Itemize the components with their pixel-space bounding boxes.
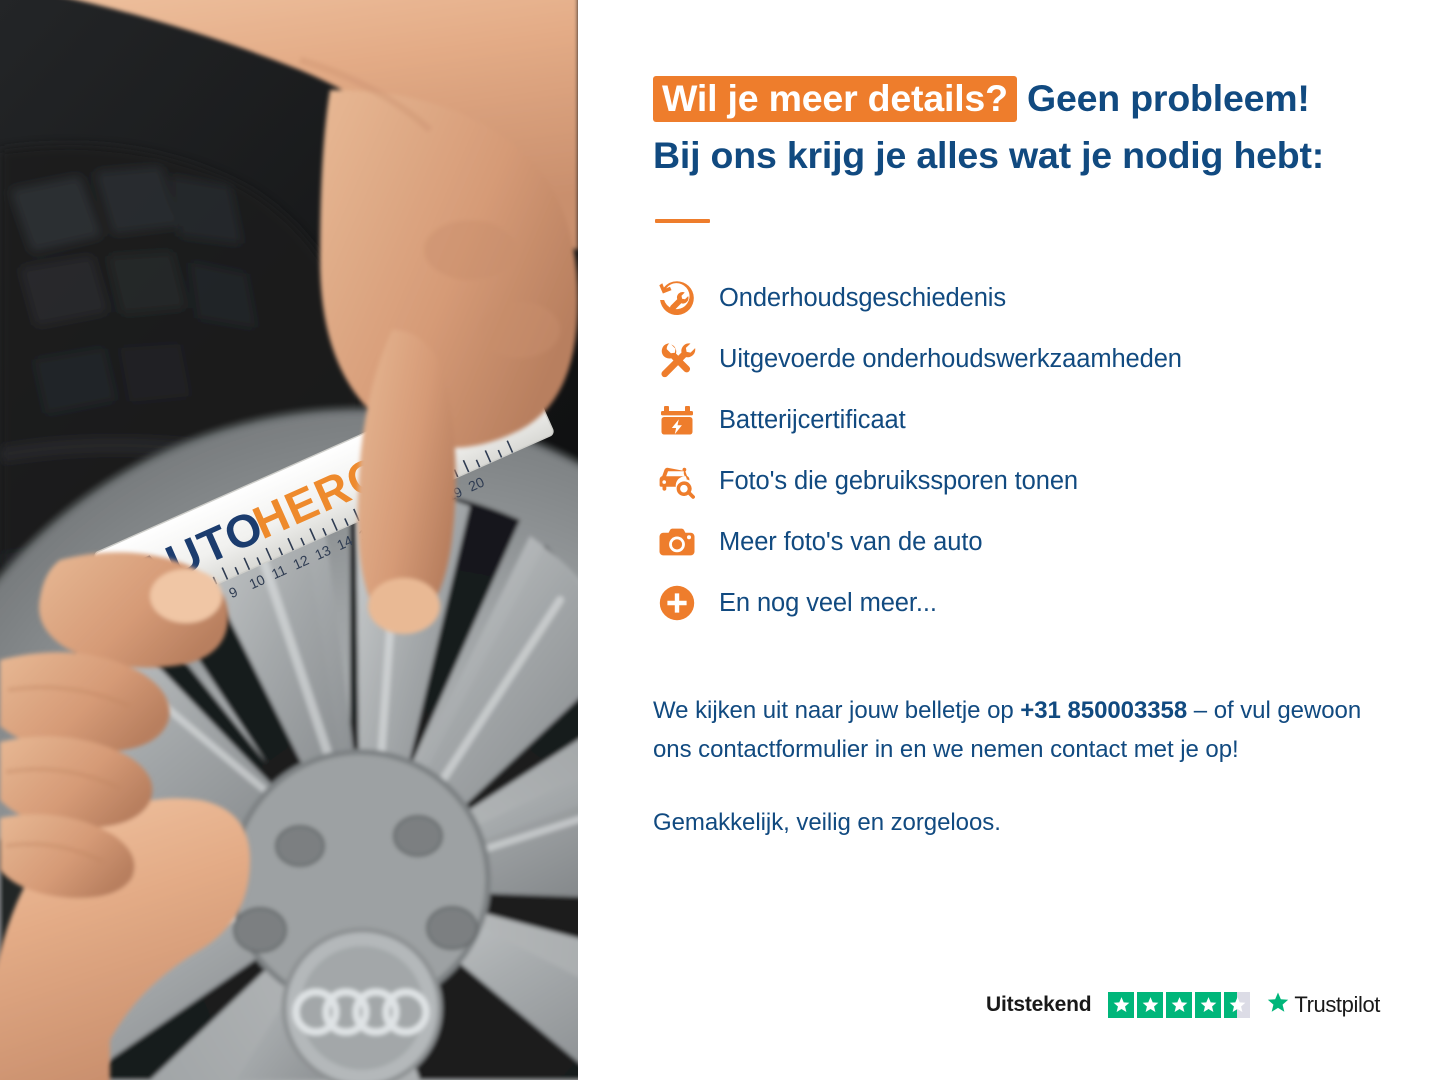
camera-icon [655, 520, 699, 564]
star-icon [1137, 992, 1163, 1018]
list-item-label: En nog veel meer... [719, 588, 937, 619]
list-item: En nog veel meer... [655, 573, 1380, 634]
contact-text-before: We kijken uit naar jouw belletje op [653, 697, 1020, 724]
headline-line2: Bij ons krijg je alles wat je nodig hebt… [653, 131, 1380, 181]
battery-icon [655, 398, 699, 442]
trustpilot-logo: Trustpilot [1267, 991, 1380, 1018]
contact-copy: We kijken uit naar jouw belletje op +31 … [653, 692, 1380, 843]
contact-paragraph: We kijken uit naar jouw belletje op +31 … [653, 692, 1380, 770]
accent-divider [655, 219, 710, 223]
headline-highlight: Wil je meer details? [653, 76, 1017, 122]
list-item: Foto's die gebruikssporen tonen [655, 451, 1380, 512]
star-icon [1166, 992, 1192, 1018]
maintenance-history-icon [655, 276, 699, 320]
list-item-label: Uitgevoerde onderhoudswerkzaamheden [719, 344, 1182, 375]
list-item: Onderhoudsgeschiedenis [655, 268, 1380, 329]
trustpilot-widget[interactable]: Uitstekend [986, 991, 1380, 1018]
star-icon [1195, 992, 1221, 1018]
star-half-icon [1224, 992, 1250, 1018]
trustpilot-star-icon [1267, 991, 1289, 1018]
star-icon [1108, 992, 1134, 1018]
headline-rest: Geen probleem! [1027, 77, 1310, 119]
tools-icon [655, 337, 699, 381]
reassurance-paragraph: Gemakkelijk, veilig en zorgeloos. [653, 804, 1380, 843]
plus-circle-icon [655, 581, 699, 625]
trustpilot-stars [1108, 992, 1250, 1018]
feature-list: Onderhoudsgeschiedenis Uitgevoerde onder… [655, 268, 1380, 634]
car-inspection-icon [655, 459, 699, 503]
list-item: Meer foto's van de auto [655, 512, 1380, 573]
list-item: Uitgevoerde onderhoudswerkzaamheden [655, 329, 1380, 390]
list-item-label: Meer foto's van de auto [719, 527, 982, 558]
content-panel: Wil je meer details? Geen probleem! Bij … [578, 0, 1440, 1080]
list-item-label: Foto's die gebruikssporen tonen [719, 466, 1078, 497]
phone-number[interactable]: +31 850003358 [1020, 697, 1187, 724]
hero-photo: AUTO HERO 567 8910 111213 141516 171819 … [0, 0, 578, 1080]
trustpilot-rating-label: Uitstekend [986, 993, 1091, 1017]
page-title: Wil je meer details? Geen probleem! Bij … [653, 74, 1380, 181]
promo-banner: AUTO HERO 567 8910 111213 141516 171819 … [0, 0, 1440, 1080]
list-item-label: Batterijcertificaat [719, 405, 906, 436]
trustpilot-wordmark: Trustpilot [1294, 992, 1380, 1018]
list-item-label: Onderhoudsgeschiedenis [719, 283, 1006, 314]
list-item: Batterijcertificaat [655, 390, 1380, 451]
